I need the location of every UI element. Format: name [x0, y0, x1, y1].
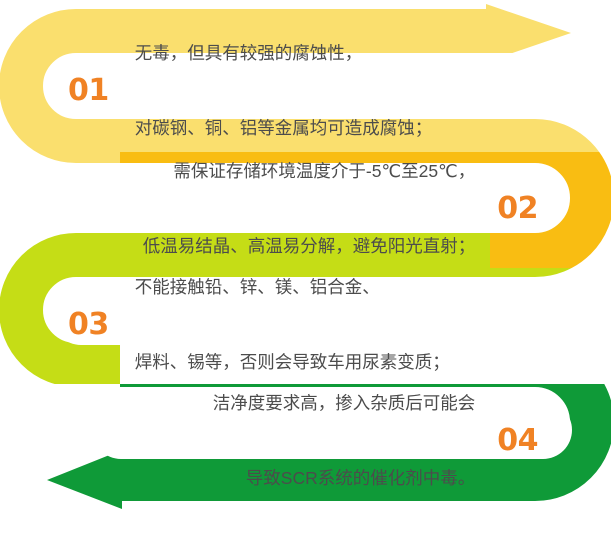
step-text-04: 洁净度要求高，掺入杂质后可能会 导致SCR系统的催化剂中毒。 [213, 342, 476, 540]
step-row-4: 洁净度要求高，掺入杂质后可能会 导致SCR系统的催化剂中毒。 04 [110, 410, 538, 472]
step-number-02: 02 [497, 194, 538, 224]
step-number-04: 04 [497, 426, 538, 456]
step-number-01: 01 [68, 76, 109, 106]
step-number-03: 03 [68, 310, 109, 340]
step-text-03-line-1: 不能接触铅、锌、镁、铝合金、 [135, 275, 450, 300]
serpentine-infographic: 01 无毒，但具有较强的腐蚀性， 对碳钢、铜、铝等金属均可造成腐蚀； 需保证存储… [0, 0, 611, 524]
step-text-04-line-2: 导致SCR系统的催化剂中毒。 [213, 466, 476, 491]
step-text-01-line-1: 无毒，但具有较强的腐蚀性， [135, 41, 433, 66]
step-text-04-line-1: 洁净度要求高，掺入杂质后可能会 [213, 391, 476, 416]
step-text-02-line-1: 需保证存储环境温度介于-5℃至25℃， [143, 159, 476, 184]
